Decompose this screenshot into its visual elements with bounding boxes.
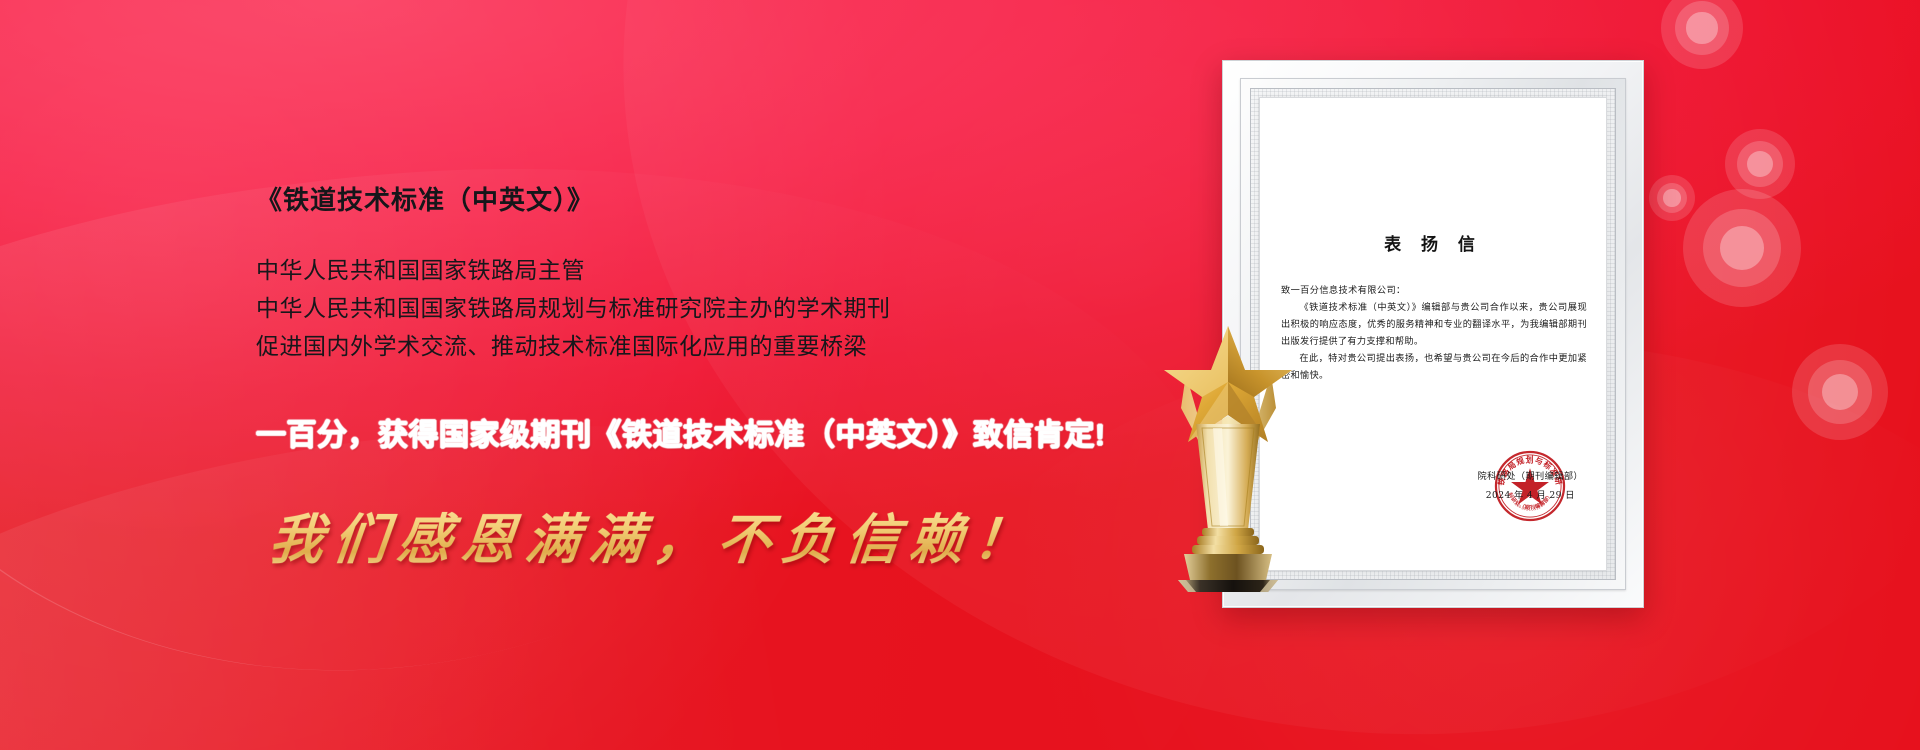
bubble-top-right xyxy=(1661,0,1743,69)
signature-organization: 院科研处（期刊编辑部） xyxy=(1478,467,1583,486)
certificate-paragraph-1: 《铁道技术标准（中英文）》编辑部与贵公司合作以来，贵公司展现出积极的响应态度，优… xyxy=(1281,299,1587,350)
certificate-salutation: 致一百分信息技术有限公司： xyxy=(1281,282,1587,299)
bubble-mid-right xyxy=(1725,129,1795,199)
certificate-body: 致一百分信息技术有限公司： 《铁道技术标准（中英文）》编辑部与贵公司合作以来，贵… xyxy=(1281,282,1587,384)
description-line-3: 促进国内外学术交流、推动技术标准国际化应用的重要桥梁 xyxy=(256,327,891,365)
signature-date: 2024 年 4 月 29 日 xyxy=(1478,486,1583,505)
text-column: 《铁道技术标准（中英文）》 中华人民共和国国家铁路局主管 中华人民共和国国家铁路… xyxy=(256,0,1176,750)
bubble-faint-right xyxy=(1792,344,1888,440)
award-headline: 一百分，获得国家级期刊《铁道技术标准（中英文）》致信肯定! xyxy=(256,410,1106,454)
certificate-signature: 院科研处（期刊编辑部） 2024 年 4 月 29 日 xyxy=(1478,467,1583,505)
journal-description: 中华人民共和国国家铁路局主管 中华人民共和国国家铁路局规划与标准研究院主办的学术… xyxy=(256,251,891,365)
bubble-lower-right xyxy=(1683,189,1801,307)
gratitude-calligraphy: 我们感恩满满，不负信赖！ xyxy=(266,495,1042,574)
description-line-2: 中华人民共和国国家铁路局规划与标准研究院主办的学术期刊 xyxy=(256,289,891,327)
certificate-paragraph-2: 在此，特对贵公司提出表扬，也希望与贵公司在今后的合作中更加紧密和愉快。 xyxy=(1281,350,1587,384)
award-banner: 《铁道技术标准（中英文）》 中华人民共和国国家铁路局主管 中华人民共和国国家铁路… xyxy=(0,0,1920,750)
bubble-small-right xyxy=(1649,175,1695,221)
journal-title: 《铁道技术标准（中英文）》 xyxy=(256,180,594,217)
star-trophy-icon xyxy=(1140,312,1320,592)
certificate-title: 表 扬 信 xyxy=(1259,230,1607,255)
description-line-1: 中华人民共和国国家铁路局主管 xyxy=(256,251,891,289)
